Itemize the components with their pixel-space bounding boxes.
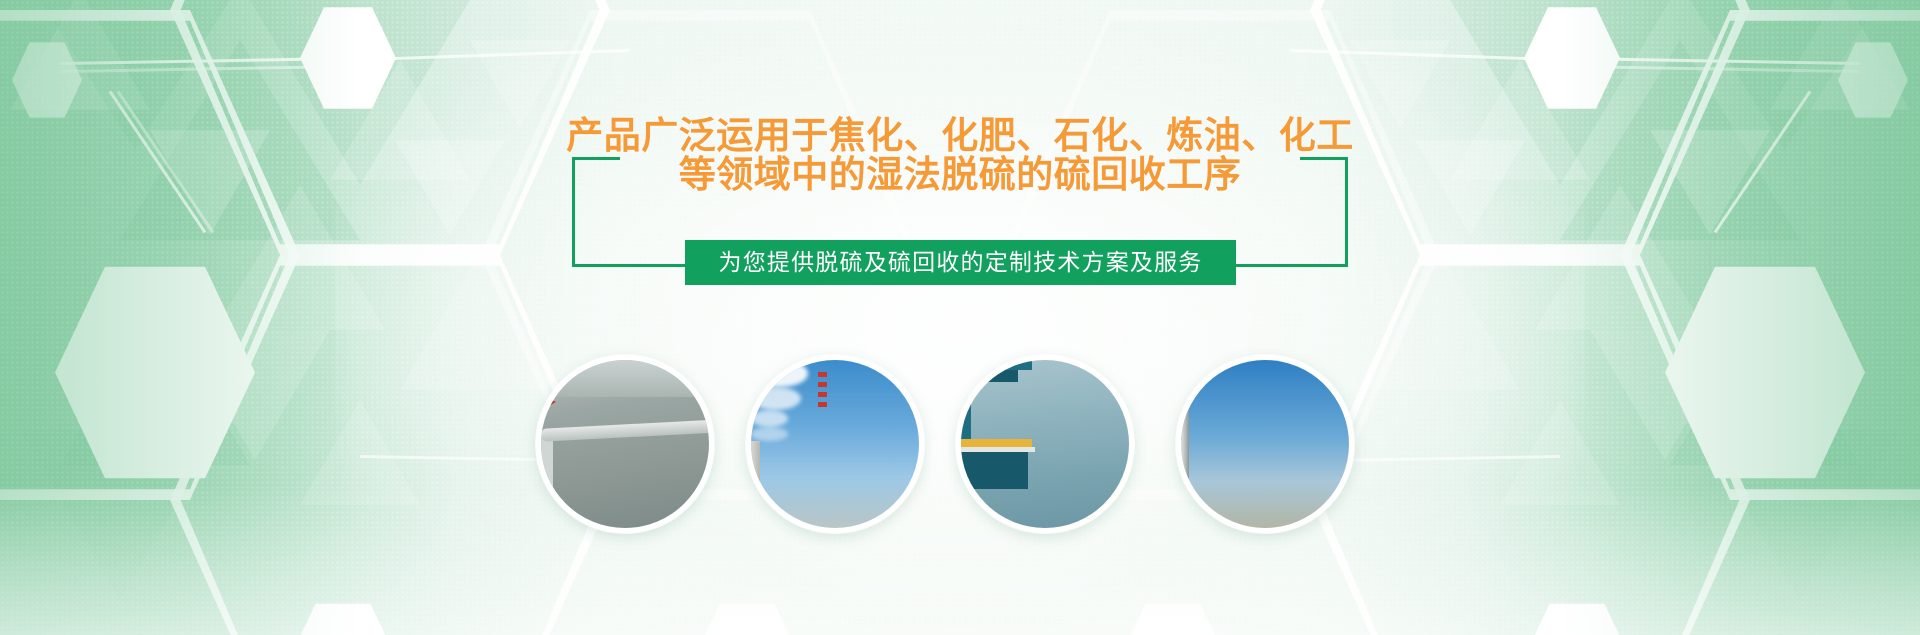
photo-refinery-columns-image bbox=[1181, 360, 1349, 528]
subtitle-bar: 为您提供脱硫及硫回收的定制技术方案及服务 bbox=[685, 240, 1236, 285]
photo-chimney-plant-image bbox=[751, 360, 919, 528]
photo-refinery-columns[interactable] bbox=[1176, 355, 1354, 533]
photo-offshore-platform[interactable] bbox=[956, 355, 1134, 533]
photo-strip bbox=[0, 355, 1920, 540]
promo-banner: 产品广泛运用于焦化、化肥、石化、炼油、化工 等领域中的湿法脱硫的硫回收工序 为您… bbox=[0, 0, 1920, 635]
photo-chimney-plant[interactable] bbox=[746, 355, 924, 533]
photo-piping-plant-image bbox=[541, 360, 709, 528]
headline: 产品广泛运用于焦化、化肥、石化、炼油、化工 等领域中的湿法脱硫的硫回收工序 bbox=[0, 116, 1920, 194]
photo-piping-plant[interactable] bbox=[536, 355, 714, 533]
flag-icon bbox=[541, 397, 556, 424]
subtitle-text: 为您提供脱硫及硫回收的定制技术方案及服务 bbox=[719, 251, 1203, 274]
headline-line-1: 产品广泛运用于焦化、化肥、石化、炼油、化工 bbox=[0, 116, 1920, 155]
headline-line-2: 等领域中的湿法脱硫的硫回收工序 bbox=[0, 155, 1920, 194]
photo-offshore-platform-image bbox=[961, 360, 1129, 528]
banner-content: 产品广泛运用于焦化、化肥、石化、炼油、化工 等领域中的湿法脱硫的硫回收工序 为您… bbox=[0, 0, 1920, 635]
